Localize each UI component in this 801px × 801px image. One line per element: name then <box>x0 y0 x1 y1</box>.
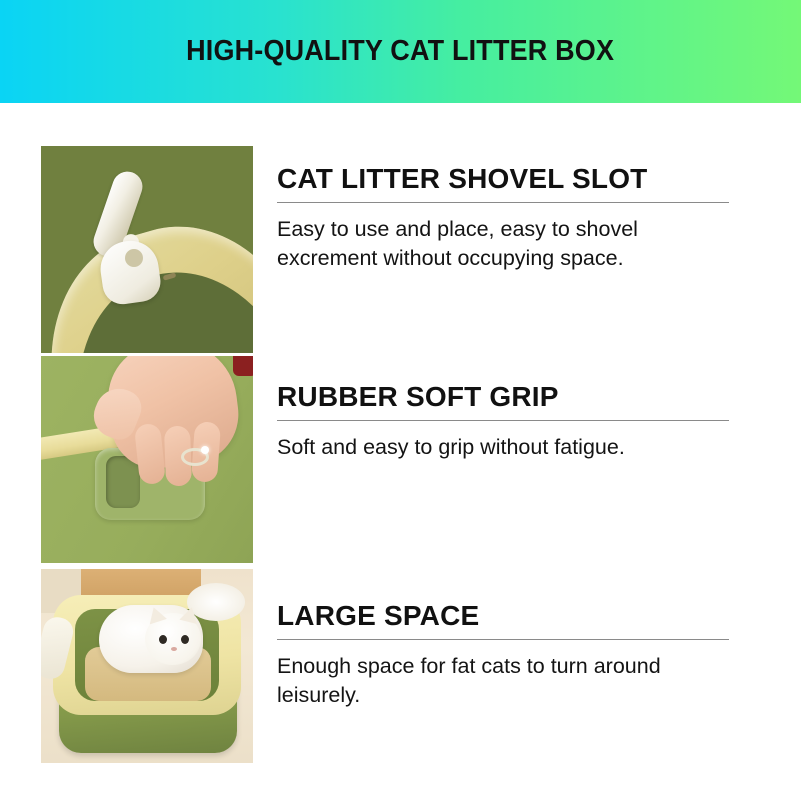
feature-description: Enough space for fat cats to turn around… <box>277 652 737 709</box>
feature-image-rubber-soft-grip <box>41 356 253 563</box>
feature-title: LARGE SPACE <box>277 601 761 631</box>
feature-image-shovel-slot <box>41 146 253 353</box>
header-banner: HIGH-QUALITY CAT LITTER BOX <box>0 0 801 103</box>
cat-eye-shape <box>181 635 189 644</box>
feature-item-rubber-soft-grip: RUBBER SOFT GRIP Soft and easy to grip w… <box>41 356 761 563</box>
feature-description: Easy to use and place, easy to shovel ex… <box>277 215 737 272</box>
feature-item-shovel-slot: CAT LITTER SHOVEL SLOT Easy to use and p… <box>41 146 761 353</box>
title-divider <box>277 639 729 640</box>
feature-title: RUBBER SOFT GRIP <box>277 382 761 412</box>
feature-text-rubber-soft-grip: RUBBER SOFT GRIP Soft and easy to grip w… <box>253 356 761 462</box>
sleeve-shape <box>233 356 253 376</box>
title-divider <box>277 202 729 203</box>
cat-eye-shape <box>159 635 167 644</box>
feature-title: CAT LITTER SHOVEL SLOT <box>277 164 761 194</box>
title-divider <box>277 420 729 421</box>
feature-description: Soft and easy to grip without fatigue. <box>277 433 737 462</box>
feature-text-large-space: LARGE SPACE Enough space for fat cats to… <box>253 569 761 709</box>
cat-nose-shape <box>171 647 177 651</box>
shovel-pivot-shape <box>125 249 143 267</box>
feature-text-shovel-slot: CAT LITTER SHOVEL SLOT Easy to use and p… <box>253 146 761 272</box>
page-title: HIGH-QUALITY CAT LITTER BOX <box>186 35 614 68</box>
feature-item-large-space: LARGE SPACE Enough space for fat cats to… <box>41 569 761 763</box>
feature-image-large-space <box>41 569 253 763</box>
ring-gem-shape <box>201 446 209 454</box>
